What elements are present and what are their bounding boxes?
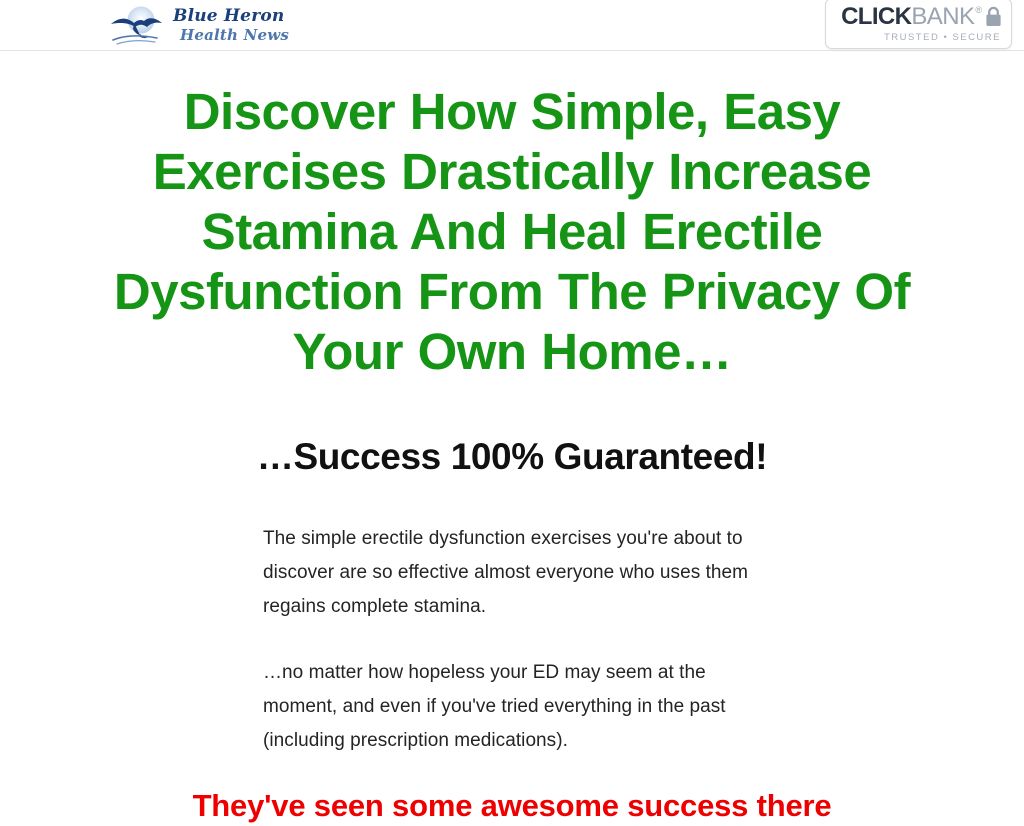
blue-heron-logo-icon — [107, 4, 171, 48]
lock-icon — [985, 6, 1002, 27]
registered-trademark-symbol: ® — [975, 6, 982, 15]
clickbank-trust-badge[interactable]: CLICK BANK ® TRUSTED • SECURE — [825, 0, 1012, 49]
body-copy-column: The simple erectile dysfunction exercise… — [263, 522, 761, 758]
clickbank-word-bank: BANK — [911, 5, 974, 29]
site-logo[interactable]: Blue Heron Health News — [107, 3, 289, 48]
page-subheadline: …Success 100% Guaranteed! — [62, 435, 962, 479]
body-paragraph-2: …no matter how hopeless your ED may seem… — [263, 656, 761, 758]
logo-wordmark: Blue Heron Health News — [173, 8, 289, 43]
logo-line-primary: Blue Heron — [173, 8, 289, 25]
body-paragraph-1: The simple erectile dysfunction exercise… — [263, 522, 761, 624]
page-main: Discover How Simple, Easy Exercises Dras… — [0, 51, 1024, 826]
clickbank-tagline: TRUSTED • SECURE — [884, 32, 1001, 43]
page-headline: Discover How Simple, Easy Exercises Dras… — [62, 82, 962, 382]
clickbank-wordmark: CLICK BANK ® — [841, 5, 1002, 29]
site-header: Blue Heron Health News Home CLICK BANK ®… — [0, 0, 1024, 51]
clickbank-word-click: CLICK — [841, 5, 911, 29]
logo-line-secondary: Health News — [180, 28, 289, 43]
red-callout-text: They've seen some awesome success there — [62, 786, 962, 826]
